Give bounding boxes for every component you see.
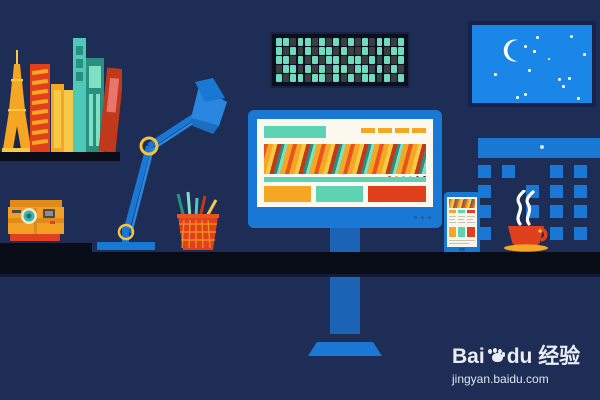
led-key-2-2[interactable] [290, 56, 296, 64]
led-key-0-15[interactable] [384, 38, 390, 46]
led-key-3-6[interactable] [319, 65, 325, 73]
led-key-0-4[interactable] [305, 38, 311, 46]
led-key-0-7[interactable] [326, 38, 332, 46]
led-key-3-8[interactable] [333, 65, 339, 73]
book-yellow [64, 90, 73, 152]
led-key-1-5[interactable] [312, 47, 318, 55]
led-key-4-1[interactable] [283, 74, 289, 82]
star [570, 35, 573, 38]
led-key-2-0[interactable] [276, 56, 282, 64]
baidu-watermark: Bai du 经验 jingyan.baidu.com [452, 340, 592, 388]
steam [518, 191, 533, 224]
baidu-paw-icon [486, 348, 506, 366]
site-logo-bar [264, 126, 326, 138]
coffee-cup [500, 190, 552, 252]
nav-item-2[interactable] [378, 128, 392, 133]
watermark-url: jingyan.baidu.com [452, 372, 592, 386]
led-key-1-3[interactable] [298, 47, 304, 55]
led-key-3-9[interactable] [341, 65, 347, 73]
led-grid-panel[interactable] [270, 32, 410, 88]
led-key-3-1[interactable] [283, 65, 289, 73]
led-key-1-1[interactable] [283, 47, 289, 55]
led-key-2-9[interactable] [341, 56, 347, 64]
led-key-1-15[interactable] [384, 47, 390, 55]
led-key-4-4[interactable] [305, 74, 311, 82]
led-key-0-8[interactable] [333, 38, 339, 46]
led-key-4-2[interactable] [290, 74, 296, 82]
led-key-1-9[interactable] [341, 47, 347, 55]
led-key-3-12[interactable] [362, 65, 368, 73]
led-key-3-0[interactable] [276, 65, 282, 73]
watermark-brand-suffix: du [507, 345, 533, 368]
star [524, 45, 527, 48]
star [562, 85, 565, 88]
led-key-4-9[interactable] [341, 74, 347, 82]
led-key-3-16[interactable] [391, 65, 397, 73]
led-key-3-13[interactable] [369, 65, 375, 73]
led-key-4-11[interactable] [355, 74, 361, 82]
eiffel-tower-figurine [2, 50, 32, 152]
led-key-1-7[interactable] [326, 47, 332, 55]
middle-shelf [0, 243, 92, 252]
watermark-brand: Bai du 经验 [452, 340, 592, 370]
led-key-2-7[interactable] [326, 56, 332, 64]
phone-screen[interactable] [447, 197, 477, 247]
led-key-0-10[interactable] [348, 38, 354, 46]
nav-item-3[interactable] [395, 128, 409, 133]
led-key-1-2[interactable] [290, 47, 296, 55]
led-key-4-17[interactable] [398, 74, 404, 82]
led-key-4-7[interactable] [326, 74, 332, 82]
led-key-0-11[interactable] [355, 38, 361, 46]
vintage-camera [8, 200, 64, 243]
led-key-2-3[interactable] [298, 56, 304, 64]
led-key-2-15[interactable] [384, 56, 390, 64]
led-key-1-17[interactable] [398, 47, 404, 55]
watermark-brand-text: Bai [452, 345, 485, 368]
led-key-3-7[interactable] [326, 65, 332, 73]
site-divider-bar [264, 177, 426, 182]
led-key-3-10[interactable] [348, 65, 354, 73]
desk-surface [0, 252, 600, 274]
monitor-indicator-3 [428, 216, 431, 219]
led-key-1-13[interactable] [369, 47, 375, 55]
workspace-illustration: Bai du 经验 jingyan.baidu.com [0, 0, 600, 400]
led-key-1-16[interactable] [391, 47, 397, 55]
led-key-4-3[interactable] [298, 74, 304, 82]
led-key-3-4[interactable] [305, 65, 311, 73]
led-key-0-12[interactable] [362, 38, 368, 46]
led-key-2-16[interactable] [391, 56, 397, 64]
led-key-4-12[interactable] [362, 74, 368, 82]
led-key-0-17[interactable] [398, 38, 404, 46]
led-key-3-11[interactable] [355, 65, 361, 73]
led-key-0-14[interactable] [377, 38, 383, 46]
led-key-2-1[interactable] [283, 56, 289, 64]
nav-item-4[interactable] [412, 128, 426, 133]
led-key-0-5[interactable] [312, 38, 318, 46]
desktop-monitor[interactable] [248, 110, 442, 252]
led-key-2-4[interactable] [305, 56, 311, 64]
star [494, 73, 497, 76]
star [533, 50, 536, 53]
led-key-2-5[interactable] [312, 56, 318, 64]
led-key-1-12[interactable] [362, 47, 368, 55]
led-key-3-14[interactable] [377, 65, 383, 73]
star [583, 53, 586, 56]
led-key-0-0[interactable] [276, 38, 282, 46]
led-key-2-11[interactable] [355, 56, 361, 64]
monitor-indicator-1 [414, 216, 417, 219]
monitor-indicator-2 [421, 216, 424, 219]
monitor-screen[interactable] [257, 119, 433, 207]
pencil-holder [172, 190, 224, 252]
led-key-1-11[interactable] [355, 47, 361, 55]
led-key-3-3[interactable] [298, 65, 304, 73]
nav-item-1[interactable] [361, 128, 375, 133]
book-striped-red [30, 64, 50, 152]
led-key-0-3[interactable] [298, 38, 304, 46]
led-key-0-2[interactable] [290, 38, 296, 46]
led-key-1-6[interactable] [319, 47, 325, 55]
led-key-2-12[interactable] [362, 56, 368, 64]
led-key-4-13[interactable] [369, 74, 375, 82]
led-key-2-6[interactable] [319, 56, 325, 64]
hero-banner[interactable] [264, 144, 426, 174]
star [528, 69, 531, 72]
led-key-3-17[interactable] [398, 65, 404, 73]
star [536, 36, 539, 39]
phone-home-button[interactable] [459, 248, 465, 251]
led-key-4-14[interactable] [377, 74, 383, 82]
star [577, 97, 580, 100]
led-grid [276, 38, 404, 82]
led-key-2-14[interactable] [377, 56, 383, 64]
led-key-0-13[interactable] [369, 38, 375, 46]
wall-bar-dot [540, 145, 544, 149]
book-orange [51, 84, 64, 152]
watermark-chinese: 经验 [538, 345, 580, 368]
led-key-0-16[interactable] [391, 38, 397, 46]
phone-hero-banner [449, 199, 475, 208]
book-teal-tall [73, 38, 86, 152]
desk-edge [0, 274, 600, 277]
led-key-0-6[interactable] [319, 38, 325, 46]
led-key-4-0[interactable] [276, 74, 282, 82]
star [568, 77, 571, 80]
led-key-4-5[interactable] [312, 74, 318, 82]
led-key-4-15[interactable] [384, 74, 390, 82]
led-key-4-16[interactable] [391, 74, 397, 82]
led-key-0-9[interactable] [341, 38, 347, 46]
led-key-3-5[interactable] [312, 65, 318, 73]
star [548, 58, 550, 60]
content-card-two[interactable] [316, 186, 363, 202]
star [524, 93, 527, 96]
led-key-0-1[interactable] [283, 38, 289, 46]
content-card-one[interactable] [264, 186, 311, 202]
led-key-1-8[interactable] [333, 47, 339, 55]
monitor-neck [330, 228, 360, 247]
led-key-2-10[interactable] [348, 56, 354, 64]
led-key-4-10[interactable] [348, 74, 354, 82]
led-key-3-2[interactable] [290, 65, 296, 73]
content-card-three[interactable] [368, 186, 426, 202]
crescent-moon-icon [500, 38, 525, 63]
led-key-2-13[interactable] [369, 56, 375, 64]
star [558, 78, 561, 81]
wall-shelf-bar [478, 138, 600, 158]
led-key-2-8[interactable] [333, 56, 339, 64]
led-key-1-14[interactable] [377, 47, 383, 55]
smartphone[interactable] [444, 192, 480, 254]
led-key-4-8[interactable] [333, 74, 339, 82]
led-key-2-17[interactable] [398, 56, 404, 64]
led-key-1-10[interactable] [348, 47, 354, 55]
monitor-chin [248, 207, 442, 228]
star [516, 96, 519, 99]
led-key-1-4[interactable] [305, 47, 311, 55]
led-key-1-0[interactable] [276, 47, 282, 55]
night-sky-window [472, 25, 592, 103]
led-key-4-6[interactable] [319, 74, 325, 82]
monitor-base [308, 342, 382, 356]
led-key-3-15[interactable] [384, 65, 390, 73]
